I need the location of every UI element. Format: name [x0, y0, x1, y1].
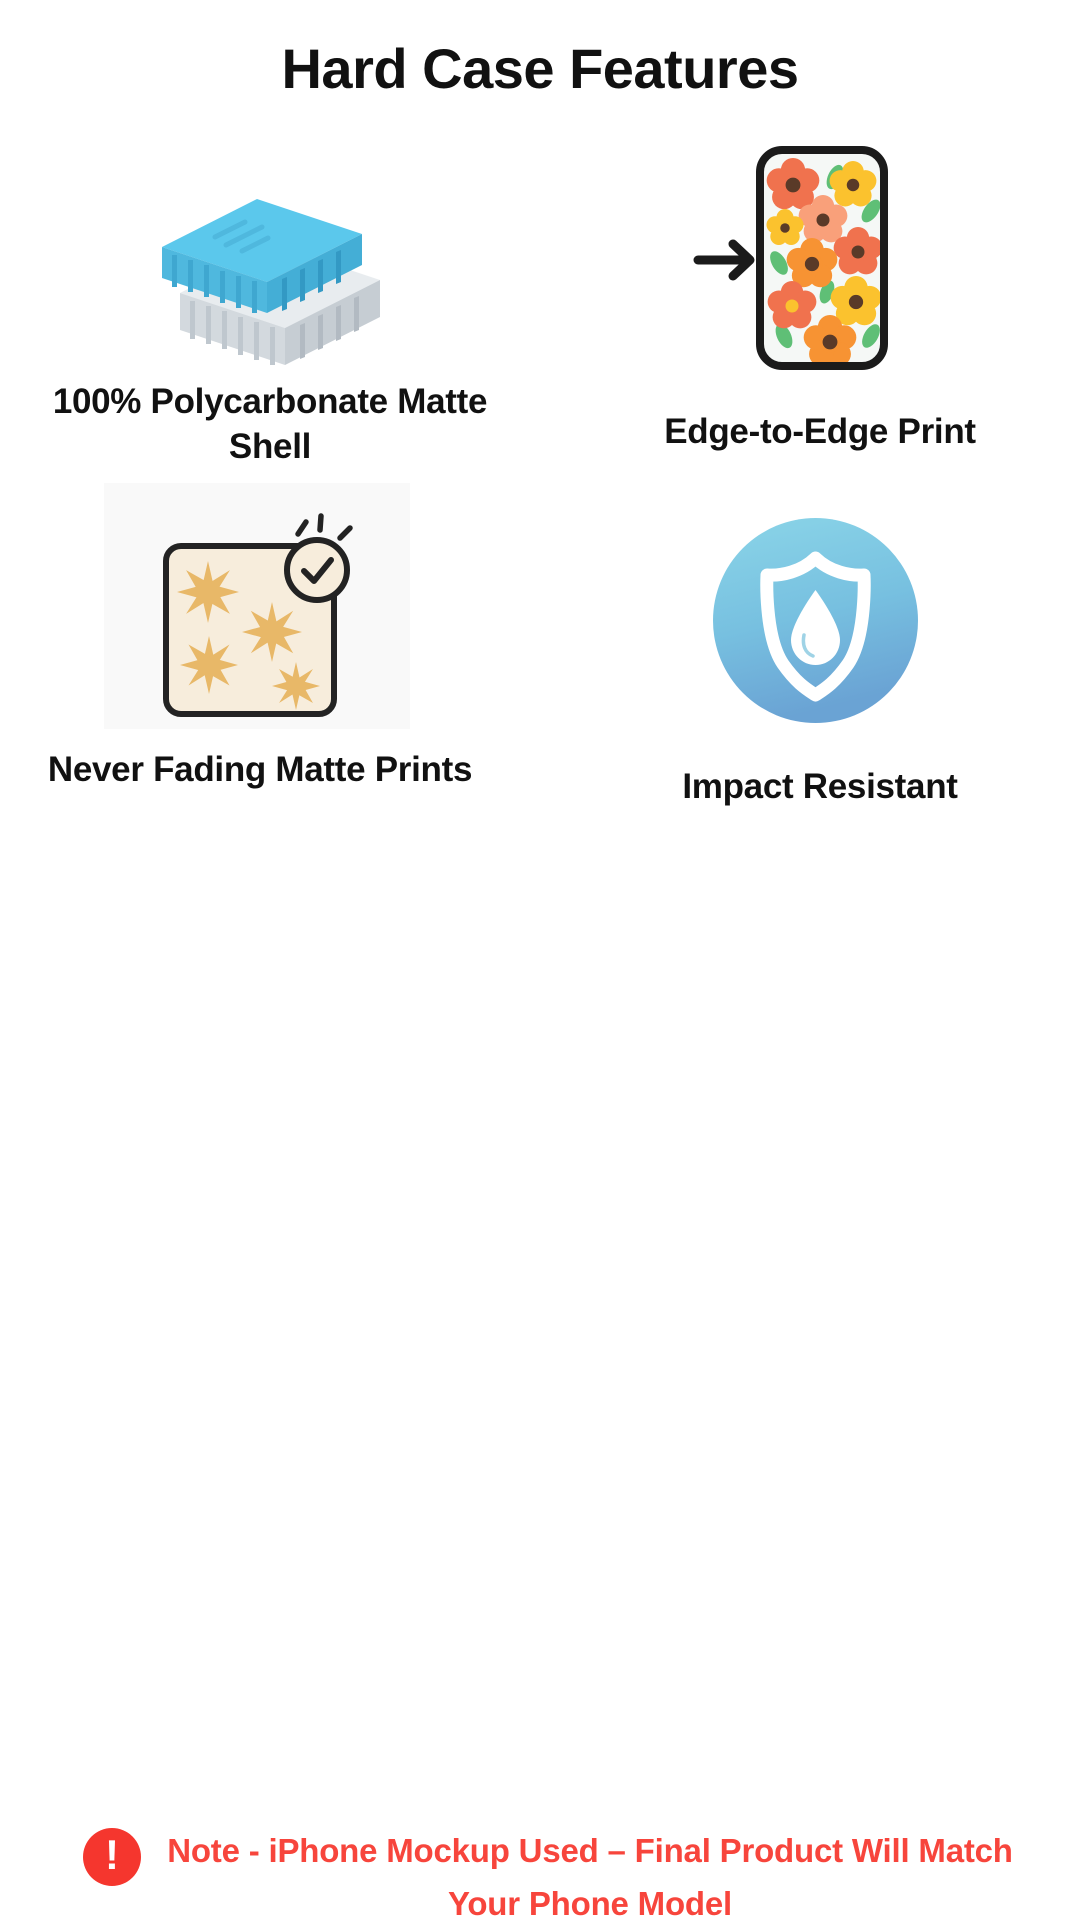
sparkle-rays [298, 516, 350, 538]
sparkle-square-check-icon [150, 520, 370, 730]
arrow-right-icon [698, 244, 750, 276]
feature-label-impact-resistant: Impact Resistant [620, 765, 1020, 810]
note-banner: ! Note - iPhone Mockup Used – Final Prod… [0, 910, 1080, 1020]
floral-phone-case-icon [690, 140, 920, 375]
layered-slabs-icon [150, 175, 400, 360]
note-text: Note - iPhone Mockup Used – Final Produc… [150, 1825, 1030, 1931]
feature-label-edge-to-edge-print: Edge-to-Edge Print [600, 410, 1040, 455]
exclamation-badge-icon: ! [83, 1828, 141, 1886]
feature-label-never-fading-prints: Never Fading Matte Prints [20, 748, 500, 793]
exclamation-glyph: ! [105, 1834, 119, 1876]
feature-infographic: Hard Case Features [0, 0, 1080, 1080]
feature-label-polycarbonate-shell: 100% Polycarbonate Matte Shell [20, 380, 520, 470]
check-badge-icon [287, 516, 350, 600]
page-title: Hard Case Features [0, 36, 1080, 101]
shield-droplet-icon [713, 518, 918, 723]
